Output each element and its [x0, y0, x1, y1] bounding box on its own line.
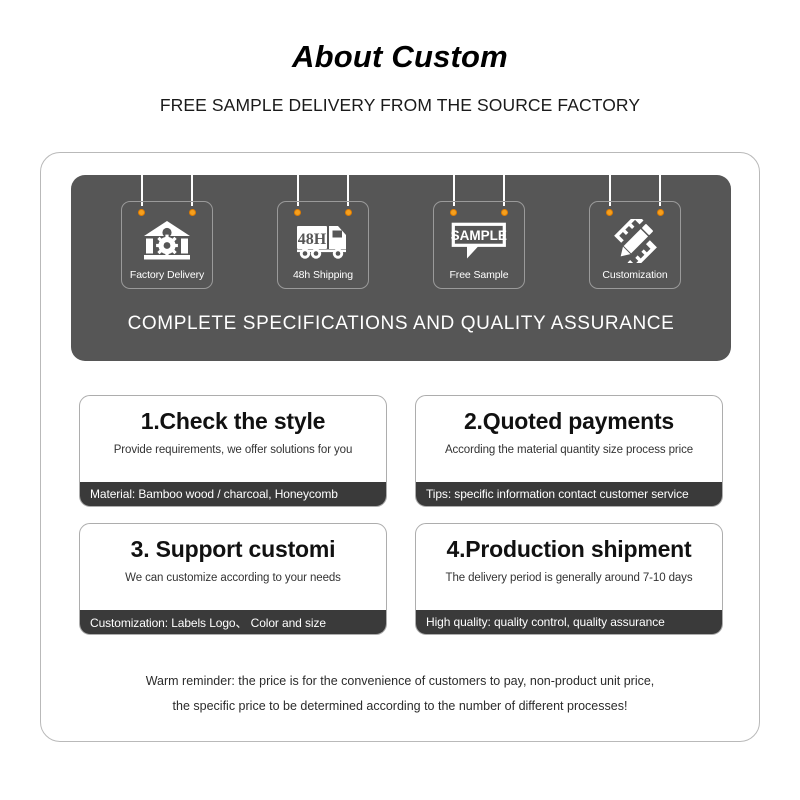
badge-label: Factory Delivery — [122, 269, 212, 281]
steps-grid: 1.Check the style Provide requirements, … — [79, 395, 723, 635]
step-title: 4.Production shipment — [447, 537, 692, 561]
step-title: 1.Check the style — [141, 409, 326, 433]
sample-speech-bubble-icon: SAMPLE — [451, 219, 507, 263]
hanger-dot-left-icon — [606, 209, 613, 216]
hanger-dot-right-icon — [345, 209, 352, 216]
step-card-2[interactable]: 2.Quoted payments According the material… — [415, 395, 723, 507]
step-tag: Customization: Labels Logo、 Color and si… — [80, 610, 386, 634]
hanger-dot-left-icon — [450, 209, 457, 216]
hanger-dot-left-icon — [294, 209, 301, 216]
banner-strap-text: COMPLETE SPECIFICATIONS AND QUALITY ASSU… — [89, 301, 713, 347]
feature-badge-48h-shipping[interactable]: 48H 48h — [277, 175, 369, 289]
page-title: About Custom — [0, 40, 800, 74]
feature-badge-factory-delivery[interactable]: Factory Delivery — [121, 175, 213, 289]
badge-label: 48h Shipping — [278, 269, 368, 281]
step-tag: Material: Bamboo wood / charcoal, Honeyc… — [80, 482, 386, 506]
feature-badge-list: Factory Delivery — [71, 175, 731, 293]
hanger-dot-right-icon — [657, 209, 664, 216]
step-title: 2.Quoted payments — [464, 409, 674, 433]
step-title: 3. Support customi — [131, 537, 336, 561]
badge-plate: SAMPLE Free Sample — [433, 201, 525, 289]
hanger-dot-right-icon — [189, 209, 196, 216]
step-description: According the material quantity size pro… — [445, 444, 693, 456]
about-custom-infographic: About Custom FREE SAMPLE DELIVERY FROM T… — [0, 0, 800, 800]
step-card-1[interactable]: 1.Check the style Provide requirements, … — [79, 395, 387, 507]
warm-reminder-line-1: Warm reminder: the price is for the conv… — [41, 669, 759, 694]
step-card-3[interactable]: 3. Support customi We can customize acco… — [79, 523, 387, 635]
badge-label: Free Sample — [434, 269, 524, 281]
step-description: We can customize according to your needs — [125, 572, 341, 584]
sample-glyph-text: SAMPLE — [451, 228, 507, 243]
badge-plate: 48H 48h — [277, 201, 369, 289]
step-description: The delivery period is generally around … — [446, 572, 693, 584]
badge-plate: Factory Delivery — [121, 201, 213, 289]
header: About Custom FREE SAMPLE DELIVERY FROM T… — [0, 0, 800, 115]
feature-badge-free-sample[interactable]: SAMPLE Free Sample — [433, 175, 525, 289]
step-description: Provide requirements, we offer solutions… — [114, 444, 353, 456]
step-tag: Tips: specific information contact custo… — [416, 482, 722, 506]
step-card-4[interactable]: 4.Production shipment The delivery perio… — [415, 523, 723, 635]
warm-reminder-note: Warm reminder: the price is for the conv… — [41, 669, 759, 719]
badge-label: Customization — [590, 269, 680, 281]
warm-reminder-line-2: the specific price to be determined acco… — [41, 694, 759, 719]
delivery-truck-48h-icon: 48H — [295, 219, 351, 263]
hanger-dot-right-icon — [501, 209, 508, 216]
svg-text:48H: 48H — [298, 231, 327, 248]
badge-plate: Customization — [589, 201, 681, 289]
step-tag: High quality: quality control, quality a… — [416, 610, 722, 634]
feature-badge-customization[interactable]: Customization — [589, 175, 681, 289]
pencil-ruler-icon — [607, 219, 663, 263]
features-banner: Factory Delivery — [71, 175, 731, 361]
content-panel: Factory Delivery — [40, 152, 760, 742]
hanger-dot-left-icon — [138, 209, 145, 216]
factory-building-gear-icon — [139, 219, 195, 263]
page-subtitle: FREE SAMPLE DELIVERY FROM THE SOURCE FAC… — [0, 96, 800, 115]
